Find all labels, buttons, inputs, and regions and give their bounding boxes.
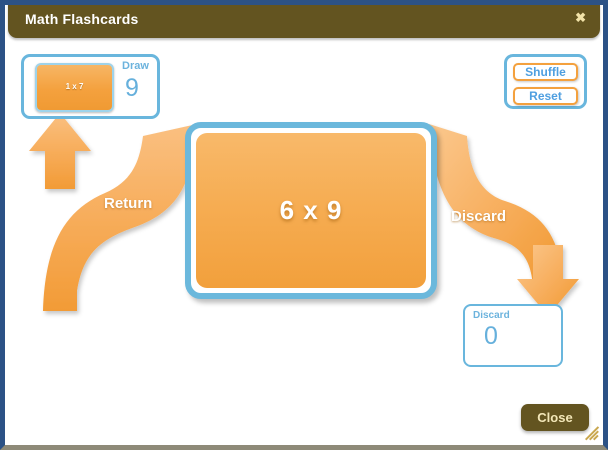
draw-pile-card-text: 1 x 7	[37, 82, 112, 91]
return-arrow-label: Return	[104, 195, 152, 212]
discard-arrow-label: Discard	[451, 208, 506, 225]
discard-pile-label: Discard	[473, 310, 510, 321]
reset-button[interactable]: Reset	[513, 87, 578, 105]
main-flashcard-text: 6 x 9	[196, 195, 426, 226]
discard-pile[interactable]: Discard 0	[463, 304, 563, 367]
control-panel: Shuffle Reset	[504, 54, 587, 109]
draw-pile-label: Draw	[122, 60, 149, 72]
draw-pile[interactable]: 1 x 7 Draw 9	[21, 54, 160, 119]
close-x-icon[interactable]: ✖	[575, 11, 586, 25]
draw-pile-top-card[interactable]: 1 x 7	[35, 63, 114, 112]
shuffle-button[interactable]: Shuffle	[513, 63, 578, 81]
page-title: Math Flashcards	[25, 11, 138, 27]
close-button[interactable]: Close	[521, 404, 589, 431]
curved-arrow-up-left-icon	[29, 113, 197, 311]
title-bar: Math Flashcards ✖	[8, 2, 600, 38]
play-surface: Return Discard 1 x 7 Draw 9 Shuffle Rese…	[5, 41, 603, 445]
draw-pile-count: 9	[125, 74, 139, 103]
discard-pile-count: 0	[484, 322, 498, 351]
resize-grip-icon[interactable]	[584, 426, 597, 439]
flashcards-window: Math Flashcards ✖	[0, 0, 608, 450]
main-flashcard[interactable]: 6 x 9	[185, 122, 437, 299]
main-flashcard-face: 6 x 9	[196, 133, 426, 288]
